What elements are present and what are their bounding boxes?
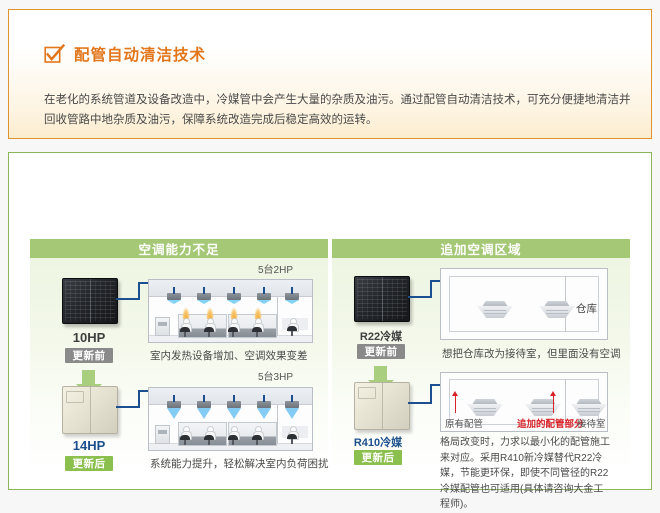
status-badge-before: 更新前 <box>65 348 113 363</box>
paragraph-after-right: 格局改变时，力求以最小化的配管施工来对应。采用R410新冷媒替代R22冷媒，节能… <box>440 435 612 513</box>
warehouse-room-before: 仓库 <box>440 268 608 340</box>
status-badge-after-right: 更新后 <box>354 450 402 465</box>
page-title: 配管自动清洁技术 <box>74 43 206 65</box>
indoor-count-after: 5台3HP <box>258 368 293 383</box>
outdoor-unit-after <box>62 386 118 434</box>
annotation-existing-pipe: 原有配管 <box>445 416 483 430</box>
room-label-warehouse: 仓库 <box>576 301 597 316</box>
annotation-added-pipe: 追加的配管部分 <box>517 416 584 430</box>
annotation-reception-room: 接待室 <box>577 416 606 430</box>
outdoor-unit-r22 <box>354 276 410 322</box>
add-zone-column: R22冷媒 更新前 仓库 想把仓库改为接待室，但里面没有空调 <box>332 258 630 477</box>
pipe-auto-clean-header: 配管自动清洁技术 <box>44 43 206 65</box>
unit-capacity-after: 14HP <box>49 438 129 453</box>
caption-before-left: 室内发热设备增加、空调效果变差 <box>150 348 308 363</box>
checkmark-box-icon <box>44 44 65 65</box>
refrigerant-label-after: R410冷媒 <box>338 434 418 450</box>
caption-after-left: 系统能力提升，轻松解决室内负荷困扰 <box>150 456 329 471</box>
column-header-capacity-shortage: 空调能力不足 <box>30 239 328 258</box>
status-badge-before-right: 更新前 <box>357 344 405 359</box>
office-room-before <box>148 279 313 343</box>
pipe-segment <box>116 298 140 300</box>
refrigerant-label-before: R22冷媒 <box>341 328 421 344</box>
status-badge-after: 更新后 <box>65 456 113 471</box>
outdoor-unit-r410 <box>354 382 410 430</box>
office-room-after <box>148 387 313 451</box>
pipe-auto-clean-body: 在老化的系统管道及设备改造中，冷媒管中会产生大量的杂质及油污。通过配管自动清洁技… <box>44 90 634 130</box>
callout-arrow-added <box>553 391 554 413</box>
unit-capacity-before: 10HP <box>49 330 129 345</box>
caption-before-right: 想把仓库改为接待室，但里面没有空调 <box>442 346 621 361</box>
pipe-auto-clean-panel: 配管自动清洁技术 在老化的系统管道及设备改造中，冷媒管中会产生大量的杂质及油污。… <box>8 9 652 139</box>
capacity-shortage-column: 5台2HP 10HP 更新前 <box>30 258 328 477</box>
callout-arrow-existing <box>455 391 456 413</box>
pipe-segment <box>138 282 140 300</box>
column-header-add-zone: 追加空调区域 <box>332 239 630 258</box>
outdoor-unit-before <box>62 278 118 324</box>
indoor-count-before: 5台2HP <box>258 261 293 276</box>
comparison-diagram: 空调能力不足 追加空调区域 5台2HP 10HP 更新前 <box>30 239 630 477</box>
